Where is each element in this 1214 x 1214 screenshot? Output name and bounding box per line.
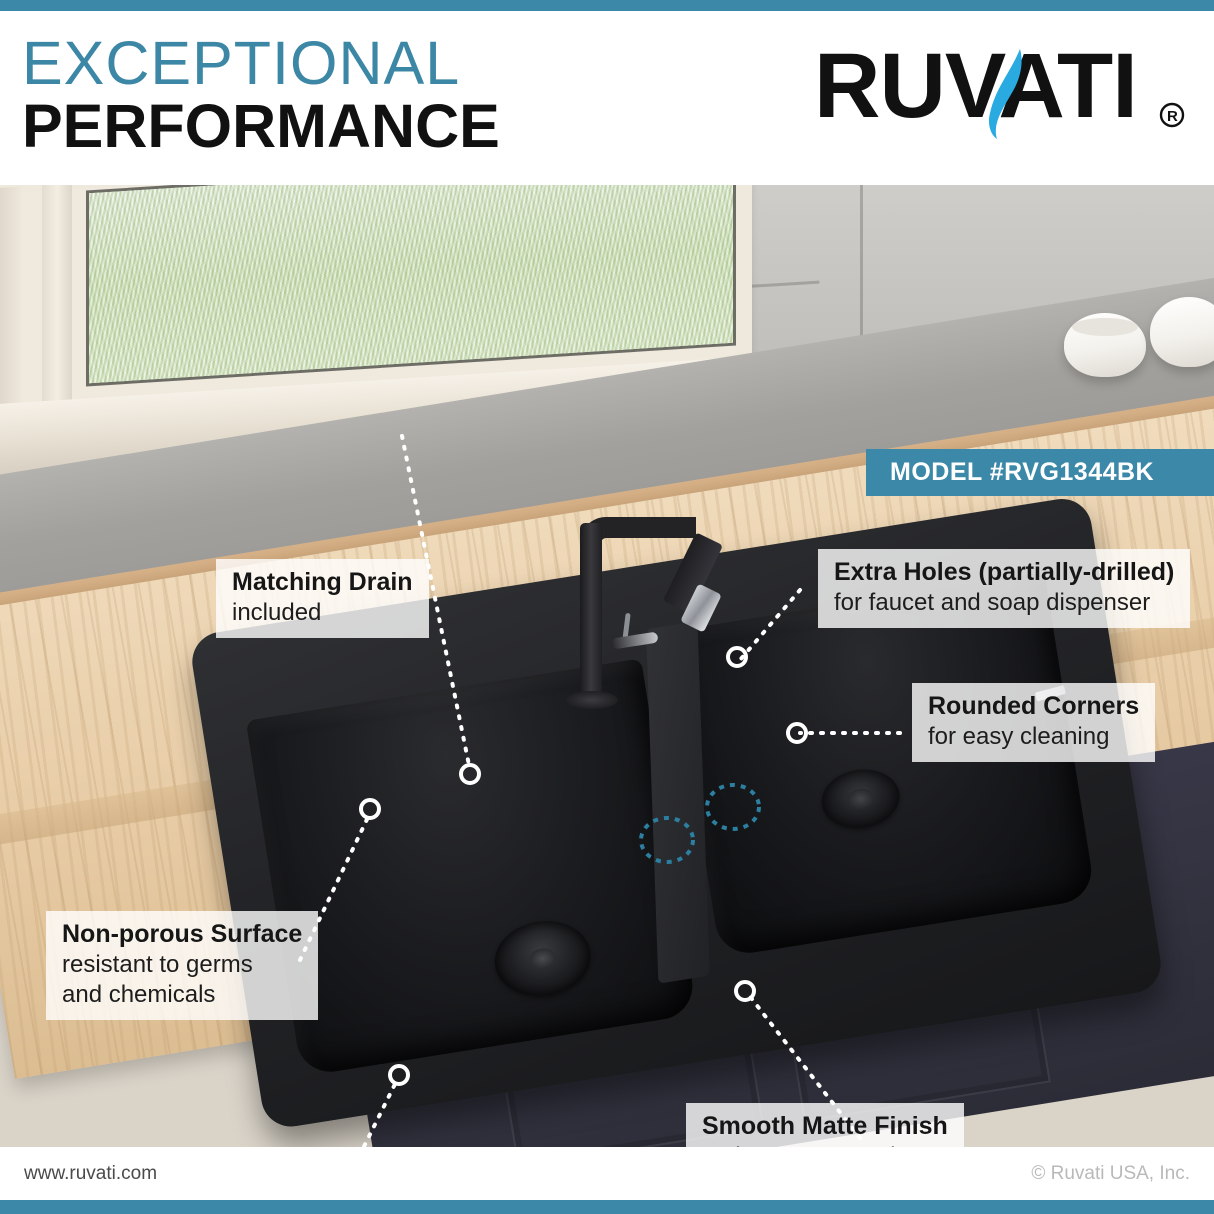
callout-matte-finish: Smooth Matte Finish resistant to scratch… (686, 1103, 964, 1147)
bottom-accent-bar (0, 1200, 1214, 1214)
faucet-handle[interactable] (611, 631, 658, 649)
model-badge: MODEL #RVG1344BK (866, 449, 1214, 496)
copyright-text: © Ruvati USA, Inc. (1031, 1163, 1190, 1185)
model-badge-label: MODEL #RVG1344BK (866, 458, 1154, 487)
top-accent-bar (0, 0, 1214, 11)
headline-line-1: EXCEPTIONAL (22, 31, 500, 95)
page-title: EXCEPTIONAL PERFORMANCE (22, 31, 500, 157)
kitchen-faucet (556, 501, 746, 721)
product-photo: MODEL #RVG1344BK Matching Drain included… (0, 185, 1214, 1147)
svg-text:R: R (1167, 108, 1178, 125)
callout-title: Matching Drain (232, 567, 413, 598)
callout-title: Rounded Corners (928, 691, 1139, 722)
footer: www.ruvati.com © Ruvati USA, Inc. (0, 1147, 1214, 1200)
callout-title: Extra Holes (partially-drilled) (834, 557, 1174, 588)
website-link[interactable]: www.ruvati.com (24, 1163, 157, 1185)
infographic-page: EXCEPTIONAL PERFORMANCE RUVATI R (0, 0, 1214, 1214)
callout-subtitle: for faucet and soap dispenser (834, 588, 1174, 618)
faucet-base (566, 691, 618, 709)
ruvati-logo: RUVATI R (814, 43, 1194, 143)
ceramic-bowl (1064, 313, 1146, 377)
faucet-column (580, 523, 602, 703)
header: EXCEPTIONAL PERFORMANCE RUVATI R (0, 11, 1214, 185)
callout-subtitle: included (232, 598, 413, 628)
window-mullion-inner (42, 185, 72, 405)
callout-subtitle-2: and chemicals (62, 980, 302, 1010)
headline-line-2: PERFORMANCE (22, 95, 500, 157)
ruvati-logo-svg: RUVATI R (814, 43, 1194, 143)
callout-title: Non-porous Surface (62, 919, 302, 950)
callout-non-porous: Non-porous Surface resistant to germs an… (46, 911, 318, 1020)
callout-subtitle: for easy cleaning (928, 722, 1139, 752)
logo-wordmark: RUVATI (814, 43, 1137, 137)
window-mullion-outer (0, 186, 22, 408)
callout-rounded-corners: Rounded Corners for easy cleaning (912, 683, 1155, 762)
callout-subtitle: resistant to germs (62, 950, 302, 980)
callout-extra-holes: Extra Holes (partially-drilled) for fauc… (818, 549, 1190, 628)
ceramic-bowl (1150, 297, 1214, 367)
callout-title: Smooth Matte Finish (702, 1111, 948, 1142)
callout-matching-drain: Matching Drain included (216, 559, 429, 638)
registered-trademark-icon: R (1161, 104, 1183, 126)
